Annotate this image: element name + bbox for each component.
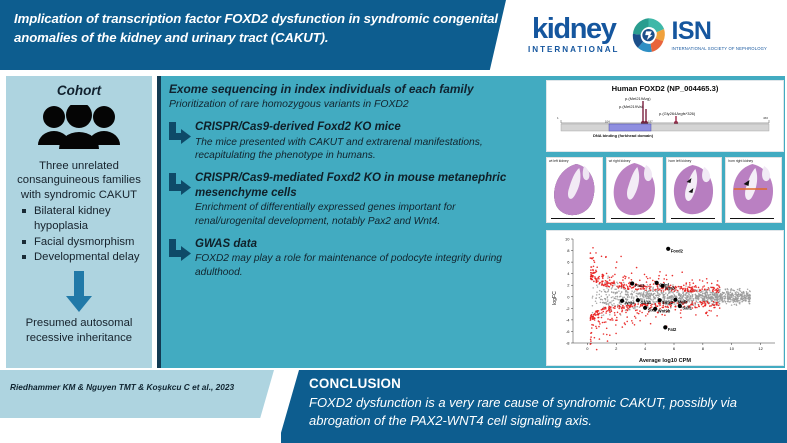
- finding-step-gwas: GWAS data FOXD2 may play a role for main…: [169, 237, 507, 280]
- cohort-feature-list: Bilateral kidney hypoplasia Facial dysmo…: [6, 204, 152, 265]
- exome-step-body: Prioritization of rare homozygous varian…: [169, 98, 507, 112]
- y-axis-label: logFC: [552, 291, 558, 305]
- protein-diagram: p.(Met219Arg) p.(Met219Val) p.(Gly264Arg…: [547, 93, 783, 139]
- histology-panel-label: wt right kidney: [609, 159, 631, 163]
- dna-binding-domain-label: DNA binding (forkhead domain): [593, 133, 654, 138]
- isn-wordmark: ISN: [672, 19, 767, 44]
- histology-panel: wt right kidney: [606, 157, 663, 223]
- protein-figure-title: Human FOXD2 (NP_004465.3): [547, 84, 783, 93]
- svg-text:Emx2: Emx2: [662, 300, 674, 305]
- elbow-arrow-icon: [169, 120, 195, 163]
- conclusion-text: FOXD2 dysfunction is a very rare cause o…: [309, 394, 775, 431]
- down-arrow-icon: [6, 271, 152, 313]
- list-item: Bilateral kidney hypoplasia: [22, 204, 150, 233]
- kidney-wordmark: kidney: [532, 15, 615, 44]
- isn-ring-icon: [628, 15, 669, 56]
- isn-text-block: ISN INTERNATIONAL SOCIETY OF NEPHROLOGY: [672, 19, 767, 51]
- svg-text:466: 466: [763, 116, 768, 120]
- histology-panel: hom left kidney: [666, 157, 723, 223]
- histology-panel-label: wt left kidney: [549, 159, 569, 163]
- conclusion-heading: CONCLUSION: [309, 376, 401, 391]
- isn-logo: ISN INTERNATIONAL SOCIETY OF NEPHROLOGY: [628, 15, 767, 56]
- histology-panel-label: hom left kidney: [669, 159, 692, 163]
- step-body: The mice presented with CAKUT and extrar…: [195, 136, 507, 163]
- svg-text:Itga8: Itga8: [665, 285, 675, 290]
- svg-text:Foxd2: Foxd2: [671, 248, 684, 253]
- step-body: Enrichment of differentially expressed g…: [195, 201, 507, 228]
- cohort-title: Cohort: [6, 83, 152, 98]
- elbow-arrow-icon: [169, 171, 195, 229]
- page-title: Implication of transcription factor FOXD…: [14, 9, 514, 47]
- variant-label-3: p.(Gly264Argfs*326): [659, 111, 696, 116]
- protein-domain-figure: Human FOXD2 (NP_004465.3) p.(Met219Arg) …: [546, 80, 784, 152]
- kidney-subtitle: INTERNATIONAL: [528, 46, 620, 54]
- cohort-panel: Cohort Three unrelated consanguineous fa…: [6, 76, 152, 368]
- ma-plot-canvas: logFC Foxd2Pax2GdnfItga8Wnt4Gfra1Emx2Maf…: [547, 231, 783, 365]
- svg-text:Mafb: Mafb: [678, 299, 688, 304]
- svg-text:10: 10: [729, 346, 734, 351]
- ma-plot-figure: logFC Foxd2Pax2GdnfItga8Wnt4Gfra1Emx2Maf…: [546, 230, 784, 366]
- kidney-international-logo: kidney INTERNATIONAL: [528, 15, 620, 54]
- list-item: Facial dysmorphism: [22, 235, 150, 250]
- svg-text:Wnt9b: Wnt9b: [658, 309, 671, 314]
- scale-bar: [671, 218, 715, 220]
- findings-flow: Exome sequencing in index individuals of…: [169, 82, 507, 279]
- citation-text: Riedhammer KM & Nguyen TMT & Koşukcu C e…: [10, 383, 272, 393]
- svg-text:Wnt4: Wnt4: [625, 300, 636, 305]
- kidney-histology-figure: wt left kidney wt right kidney hom left …: [546, 157, 782, 223]
- exome-step-title: Exome sequencing in index individuals of…: [169, 82, 507, 97]
- svg-text:Gfra1: Gfra1: [641, 300, 652, 305]
- step-title: GWAS data: [195, 237, 507, 252]
- ma-plot-svg: Foxd2Pax2GdnfItga8Wnt4Gfra1Emx2MafbSix1W…: [547, 231, 783, 365]
- step-title: CRISPR/Cas9-mediated Foxd2 KO in mouse m…: [195, 171, 507, 200]
- isn-subtitle: INTERNATIONAL SOCIETY OF NEPHROLOGY: [672, 46, 767, 51]
- step-body: FOXD2 may play a role for maintenance of…: [195, 252, 507, 279]
- svg-text:197: 197: [648, 120, 653, 124]
- variant-label-1: p.(Met219Arg): [625, 96, 651, 101]
- histology-panel: hom right kidney: [725, 157, 782, 223]
- svg-text:Pax2: Pax2: [635, 283, 645, 288]
- conclusion-band: CONCLUSION FOXD2 dysfunction is a very r…: [281, 370, 787, 443]
- list-item: Developmental delay: [22, 250, 150, 265]
- cohort-inheritance-note: Presumed autosomal recessive inheritance: [6, 316, 152, 345]
- conclusion-notch: [281, 370, 299, 443]
- svg-text:1: 1: [557, 116, 559, 120]
- footer: Riedhammer KM & Nguyen TMT & Koşukcu C e…: [0, 370, 787, 443]
- people-group-icon: [6, 105, 152, 153]
- graphical-abstract: Implication of transcription factor FOXD…: [0, 0, 787, 443]
- header-banner: Implication of transcription factor FOXD…: [0, 0, 540, 70]
- histology-panel: wt left kidney: [546, 157, 603, 223]
- svg-text:104: 104: [605, 120, 610, 124]
- journal-logos: kidney INTERNATIONAL ISN INTERNATIONAL S…: [528, 4, 787, 66]
- citation-band: Riedhammer KM & Nguyen TMT & Koşukcu C e…: [0, 370, 300, 418]
- variant-label-2: p.(Met219Val): [619, 104, 644, 109]
- cohort-summary: Three unrelated consanguineous families …: [6, 159, 152, 202]
- histology-panel-label: hom right kidney: [728, 159, 753, 163]
- x-axis-label: Average log10 CPM: [547, 358, 783, 364]
- svg-text:10: 10: [565, 237, 570, 242]
- svg-text:Sall1: Sall1: [682, 306, 692, 311]
- finding-step-mice: CRISPR/Cas9-derived Foxd2 KO mice The mi…: [169, 120, 507, 163]
- elbow-arrow-icon: [169, 237, 195, 280]
- scale-bar: [551, 218, 595, 220]
- svg-text:12: 12: [758, 346, 763, 351]
- scale-bar: [611, 218, 655, 220]
- svg-text:Fat2: Fat2: [668, 327, 677, 332]
- finding-step-mm-cells: CRISPR/Cas9-mediated Foxd2 KO in mouse m…: [169, 171, 507, 229]
- step-title: CRISPR/Cas9-derived Foxd2 KO mice: [195, 120, 507, 135]
- scale-bar: [730, 218, 774, 220]
